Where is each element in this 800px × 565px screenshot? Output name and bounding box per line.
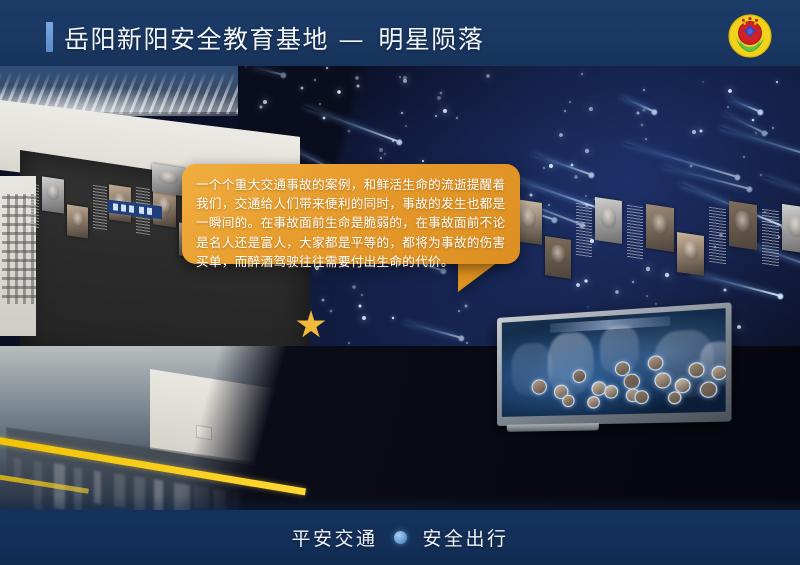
display-avatar[interactable] — [711, 365, 725, 380]
star-point — [743, 156, 745, 158]
star-point — [329, 309, 332, 312]
star-point — [439, 91, 442, 94]
title-accent-bar — [46, 22, 53, 52]
star-point — [260, 106, 263, 109]
display-avatar[interactable] — [668, 391, 682, 404]
display-avatar[interactable] — [562, 395, 574, 408]
star-point — [337, 90, 341, 94]
star-point — [587, 306, 588, 307]
portrait-face-highlight — [72, 211, 84, 228]
portrait-face-highlight — [47, 183, 59, 201]
star-point — [348, 129, 351, 132]
star-point — [643, 89, 645, 91]
memorial-text-panel — [576, 203, 592, 258]
star-point — [314, 79, 316, 81]
footer-separator-dot-icon — [394, 531, 407, 544]
star-point — [360, 293, 363, 296]
star-point — [699, 129, 702, 132]
memorial-text-panel — [26, 183, 39, 229]
portrait-face-highlight — [735, 210, 751, 234]
star-point — [692, 130, 696, 134]
traffic-police-emblem-icon — [726, 12, 774, 60]
star-point — [548, 204, 550, 206]
speech-bubble-line: 我们，交通给人们带来便利的同时，事故的发生也都是 — [196, 194, 508, 213]
display-screen[interactable] — [502, 308, 726, 417]
speech-bubble-line: 一瞬间的。在事故面前生命是脆弱的，在事故面前不论 — [196, 213, 508, 232]
display-avatar[interactable] — [604, 385, 618, 399]
star-point — [352, 285, 356, 289]
memorial-text-panel — [709, 207, 726, 265]
speech-bubble-text: 一个个重大交通事故的案例，和鲜活生命的流逝提醒着我们，交通给人们带来便利的同时，… — [196, 175, 508, 271]
star-point — [456, 117, 457, 118]
star-point — [631, 280, 633, 282]
memorial-text-panel — [627, 205, 643, 261]
memorial-text-panel — [762, 209, 779, 268]
star-point — [724, 288, 727, 291]
star-point — [358, 304, 361, 307]
star-point — [443, 109, 447, 113]
star-point — [702, 81, 704, 83]
page-footer: 平安交通 安全出行 — [0, 510, 800, 565]
display-avatar[interactable] — [624, 373, 640, 389]
star-point — [399, 76, 401, 78]
star-point — [640, 123, 643, 126]
star-point — [263, 100, 267, 104]
page-title: 岳阳新阳安全教育基地 — 明星陨落 — [64, 20, 484, 56]
star-point — [465, 304, 468, 307]
star-point — [755, 132, 757, 134]
footer-slogan-left: 平安交通 — [291, 524, 377, 551]
star-point — [584, 279, 587, 282]
display-stand — [507, 423, 599, 432]
star-point — [664, 273, 668, 277]
star-point — [569, 101, 571, 103]
display-avatar[interactable] — [635, 390, 649, 404]
display-avatar[interactable] — [532, 379, 547, 395]
portrait-face-highlight — [652, 213, 668, 236]
star-point — [728, 89, 732, 93]
speech-bubble-line: 是名人还是富人，大家都是平等的，都将为事故的伤害 — [196, 233, 508, 252]
star-point — [576, 283, 580, 287]
star-point — [615, 290, 619, 294]
star-point — [580, 72, 582, 74]
interactive-touch-display[interactable] — [497, 302, 732, 426]
star-point — [636, 111, 639, 114]
display-avatar[interactable] — [587, 396, 600, 409]
speech-bubble-line: 一个个重大交通事故的案例，和鲜活生命的流逝提醒着 — [196, 175, 508, 194]
star-point — [646, 295, 648, 297]
speech-bubble: 一个个重大交通事故的案例，和鲜活生命的流逝提醒着我们，交通给人们带来便利的同时，… — [182, 164, 520, 264]
star-point — [355, 76, 358, 79]
star-point — [422, 160, 424, 162]
star-point — [380, 157, 382, 159]
portrait-face-highlight — [683, 240, 698, 261]
star-point — [321, 298, 324, 301]
speech-bubble-line: 买单，而醉酒驾驶往往需要付出生命的代价。 — [196, 252, 508, 271]
footer-slogan-right: 安全出行 — [423, 524, 509, 551]
page-title-sub: 明星陨落 — [374, 25, 484, 54]
star-point — [727, 106, 728, 107]
display-face-image — [548, 331, 594, 395]
display-avatar[interactable] — [700, 381, 717, 398]
portrait-face-highlight — [521, 207, 536, 229]
star-point — [362, 316, 366, 320]
portrait-face-highlight — [551, 244, 566, 265]
star-point — [245, 66, 246, 67]
poster-root: 岳阳新阳安全教育基地 — 明星陨落 — [0, 0, 800, 565]
page-title-main: 岳阳新阳安全教育基地 — [64, 25, 329, 54]
exhibition-photo: 一个个重大交通事故的案例，和鲜活生命的流逝提醒着我们，交通给人们带来便利的同时，… — [0, 66, 800, 516]
memorial-text-panel — [93, 185, 107, 232]
star-point — [751, 119, 754, 122]
portrait-face-highlight — [788, 213, 800, 238]
star-point — [326, 67, 328, 69]
star-point — [348, 342, 350, 344]
star-point — [642, 108, 645, 111]
page-title-dash: — — [338, 25, 365, 54]
page-header: 岳阳新阳安全教育基地 — 明星陨落 — [0, 0, 800, 72]
star-point — [574, 175, 578, 179]
star-point — [737, 325, 741, 329]
